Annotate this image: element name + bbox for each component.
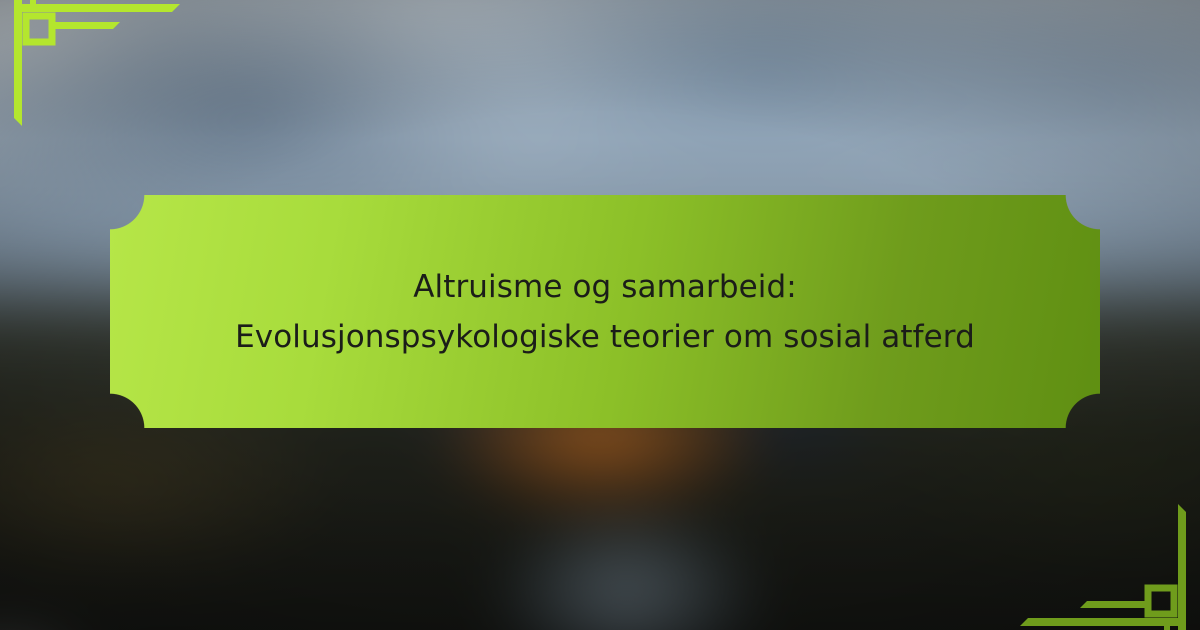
page-title-line-2: Evolusjonspsykologiske teorier om sosial… (235, 312, 975, 362)
corner-bracket-top-left (0, 0, 180, 180)
title-card-content: Altruisme og samarbeid: Evolusjonspsykol… (110, 195, 1100, 428)
og-card-canvas: Altruisme og samarbeid: Evolusjonspsykol… (0, 0, 1200, 630)
title-card: Altruisme og samarbeid: Evolusjonspsykol… (110, 195, 1100, 428)
page-title-line-1: Altruisme og samarbeid: (413, 262, 797, 312)
corner-bracket-bottom-right (1020, 450, 1200, 630)
